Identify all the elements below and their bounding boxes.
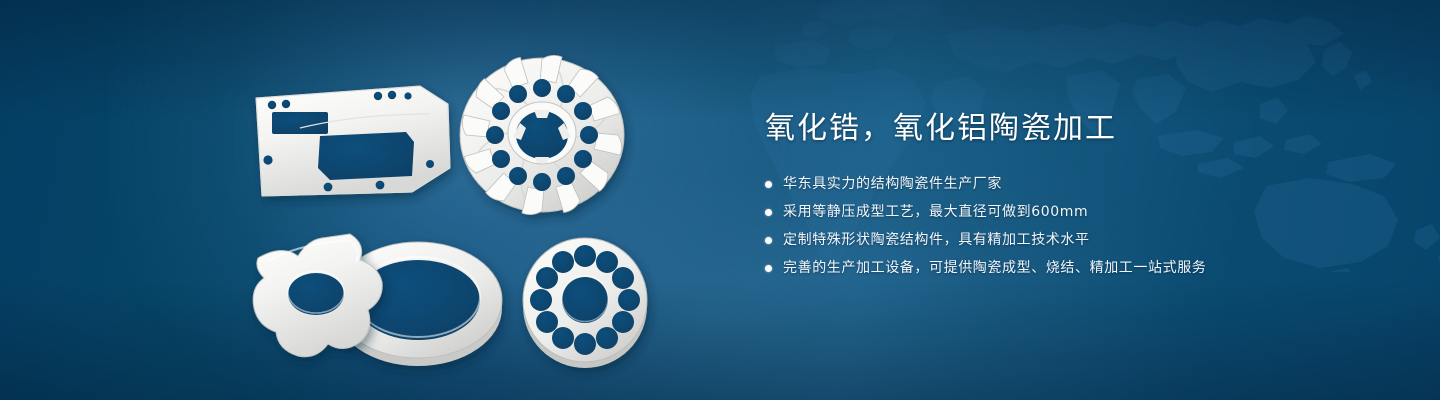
- list-item-label: 定制特殊形状陶瓷结构件，具有精加工技术水平: [783, 228, 1090, 252]
- bullet-dot-icon: [765, 265, 772, 272]
- bullet-dot-icon: [765, 209, 772, 216]
- bullet-dot-icon: [765, 237, 772, 244]
- product-ceramic-disc: [523, 238, 647, 368]
- list-item: 采用等静压成型工艺，最大直径可做到600mm: [765, 200, 1385, 224]
- list-item-label: 华东具实力的结构陶瓷件生产厂家: [783, 172, 1002, 196]
- feature-list: 华东具实力的结构陶瓷件生产厂家 采用等静压成型工艺，最大直径可做到600mm 定…: [765, 172, 1385, 280]
- product-photo-cluster: [0, 0, 700, 400]
- product-ceramic-plate: [256, 86, 450, 196]
- page-title: 氧化锆，氧化铝陶瓷加工: [765, 108, 1385, 150]
- bullet-dot-icon: [765, 181, 772, 188]
- list-item-label: 完善的生产加工设备，可提供陶瓷成型、烧结、精加工一站式服务: [783, 256, 1206, 280]
- hero-banner: 氧化锆，氧化铝陶瓷加工 华东具实力的结构陶瓷件生产厂家 采用等静压成型工艺，最大…: [0, 0, 1440, 400]
- list-item: 完善的生产加工设备，可提供陶瓷成型、烧结、精加工一站式服务: [765, 256, 1385, 280]
- product-ceramic-cross: [253, 234, 382, 357]
- list-item: 华东具实力的结构陶瓷件生产厂家: [765, 172, 1385, 196]
- list-item: 定制特殊形状陶瓷结构件，具有精加工技术水平: [765, 228, 1385, 252]
- banner-copy: 氧化锆，氧化铝陶瓷加工 华东具实力的结构陶瓷件生产厂家 采用等静压成型工艺，最大…: [765, 108, 1385, 284]
- product-ceramic-impeller: [460, 55, 624, 214]
- list-item-label: 采用等静压成型工艺，最大直径可做到600mm: [783, 200, 1088, 224]
